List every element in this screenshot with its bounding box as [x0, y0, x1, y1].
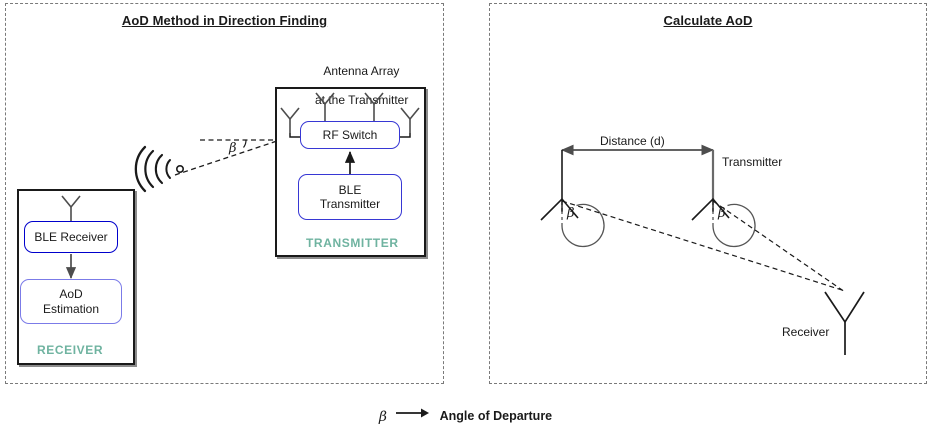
ble-transmitter-block[interactable]: BLE Transmitter — [298, 174, 402, 220]
right-arrow-icon — [396, 407, 430, 421]
ble-transmitter-label-line2: Transmitter — [320, 197, 380, 211]
beta-label-left: β — [229, 141, 237, 156]
receiver-zone-label: RECEIVER — [37, 343, 103, 357]
left-panel-title: AoD Method in Direction Finding — [6, 13, 443, 28]
aod-estimation-label-line2: Estimation — [43, 302, 99, 316]
aod-estimation-label-line1: AoD — [59, 287, 82, 301]
transmitter-label: Transmitter — [722, 155, 782, 169]
diagram-canvas: AoD Method in Direction Finding Antenna … — [0, 0, 931, 431]
legend: β Angle of Departure — [0, 407, 931, 425]
rf-switch-block[interactable]: RF Switch — [300, 121, 400, 149]
transmitter-group-box — [275, 87, 426, 257]
legend-beta-symbol: β — [379, 409, 387, 425]
antenna-array-caption-line1: Antenna Array — [323, 64, 399, 78]
aod-estimation-block[interactable]: AoD Estimation — [20, 279, 122, 324]
beta-label-right-2: β — [718, 206, 726, 221]
distance-label: Distance (d) — [600, 134, 665, 148]
rf-switch-label: RF Switch — [323, 128, 378, 142]
legend-meaning: Angle of Departure — [440, 409, 553, 423]
right-panel-title: Calculate AoD — [490, 13, 926, 28]
ble-receiver-label: BLE Receiver — [34, 230, 107, 244]
panel-calculate-aod: Calculate AoD — [489, 3, 927, 384]
receiver-group-box — [17, 189, 135, 365]
ble-transmitter-label-line1: BLE — [339, 183, 362, 197]
beta-label-right-1: β — [567, 206, 575, 221]
receiver-label: Receiver — [782, 325, 829, 339]
transmitter-zone-label: TRANSMITTER — [306, 236, 399, 250]
ble-receiver-block[interactable]: BLE Receiver — [24, 221, 118, 253]
